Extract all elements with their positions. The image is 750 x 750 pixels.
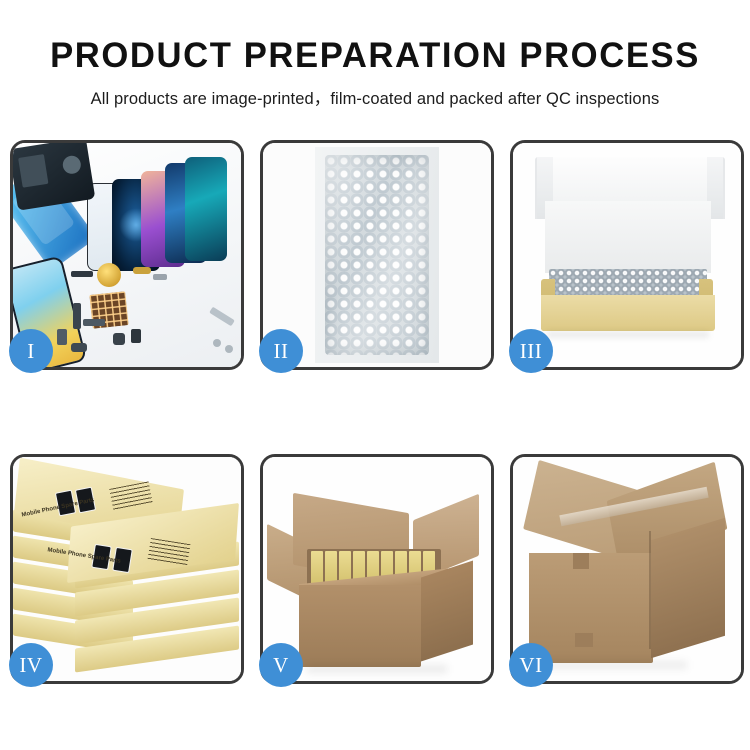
step-panel-3[interactable]: III [510,140,744,370]
mailer-box-illustration [513,143,741,367]
carton-handle-cut [575,633,593,647]
step-image-6 [513,457,741,681]
carton-shadow [537,661,687,669]
step-panel-1[interactable]: I [10,140,244,370]
box-front-icon [541,295,715,331]
part-icon [113,333,125,345]
tweezers-icon [209,307,235,327]
part-icon [57,329,67,345]
part-icon [71,271,93,277]
step-badge-1: I [9,329,53,373]
box-shadow [547,331,709,338]
logic-board-icon [13,143,95,211]
screw-icon [225,345,233,353]
page-header: PRODUCT PREPARATION PROCESS All products… [0,0,750,109]
step-image-2 [263,143,491,367]
step-badge-2: II [259,329,303,373]
carton-edge-seam [649,531,651,649]
step-image-5 [263,457,491,681]
part-icon [131,329,141,343]
carton-side-face [651,518,725,659]
carton-shadow [307,665,447,673]
step-badge-3: III [509,329,553,373]
carton-handle-cut [573,553,589,569]
process-steps-grid: I II III [10,140,740,678]
phone-parts-illustration [13,143,241,367]
step-panel-4[interactable]: Mobile Phone Spare Parts Mobile Phone Sp… [10,454,244,684]
part-icon [71,343,87,352]
part-icon [83,319,105,326]
stacked-boxes-illustration: Mobile Phone Spare Parts Mobile Phone Sp… [13,457,241,681]
step-panel-2[interactable]: II [260,140,494,370]
page-title: PRODUCT PREPARATION PROCESS [4,0,747,76]
part-icon [133,267,151,274]
step-image-3 [513,143,741,367]
coil-icon [97,263,121,287]
step-panel-5[interactable]: V [260,454,494,684]
open-carton-illustration [263,457,491,681]
step-badge-6: VI [509,643,553,687]
bubble-wrap-illustration [263,143,491,367]
sealed-carton-illustration [513,457,741,681]
box-back-wall [545,201,711,273]
step-panel-6[interactable]: VI [510,454,744,684]
part-icon [73,303,81,329]
step-image-1 [13,143,241,367]
phone-display-teal-icon [185,157,227,261]
part-icon [153,274,167,280]
step-badge-4: IV [9,643,53,687]
plastic-glare [325,155,429,355]
step-image-4: Mobile Phone Spare Parts Mobile Phone Sp… [13,457,241,681]
carton-side-face [421,561,473,662]
screw-icon [213,339,221,347]
carton-front-face [299,585,421,667]
step-badge-5: V [259,643,303,687]
page-subtitle: All products are image-printed，film-coat… [0,76,750,109]
